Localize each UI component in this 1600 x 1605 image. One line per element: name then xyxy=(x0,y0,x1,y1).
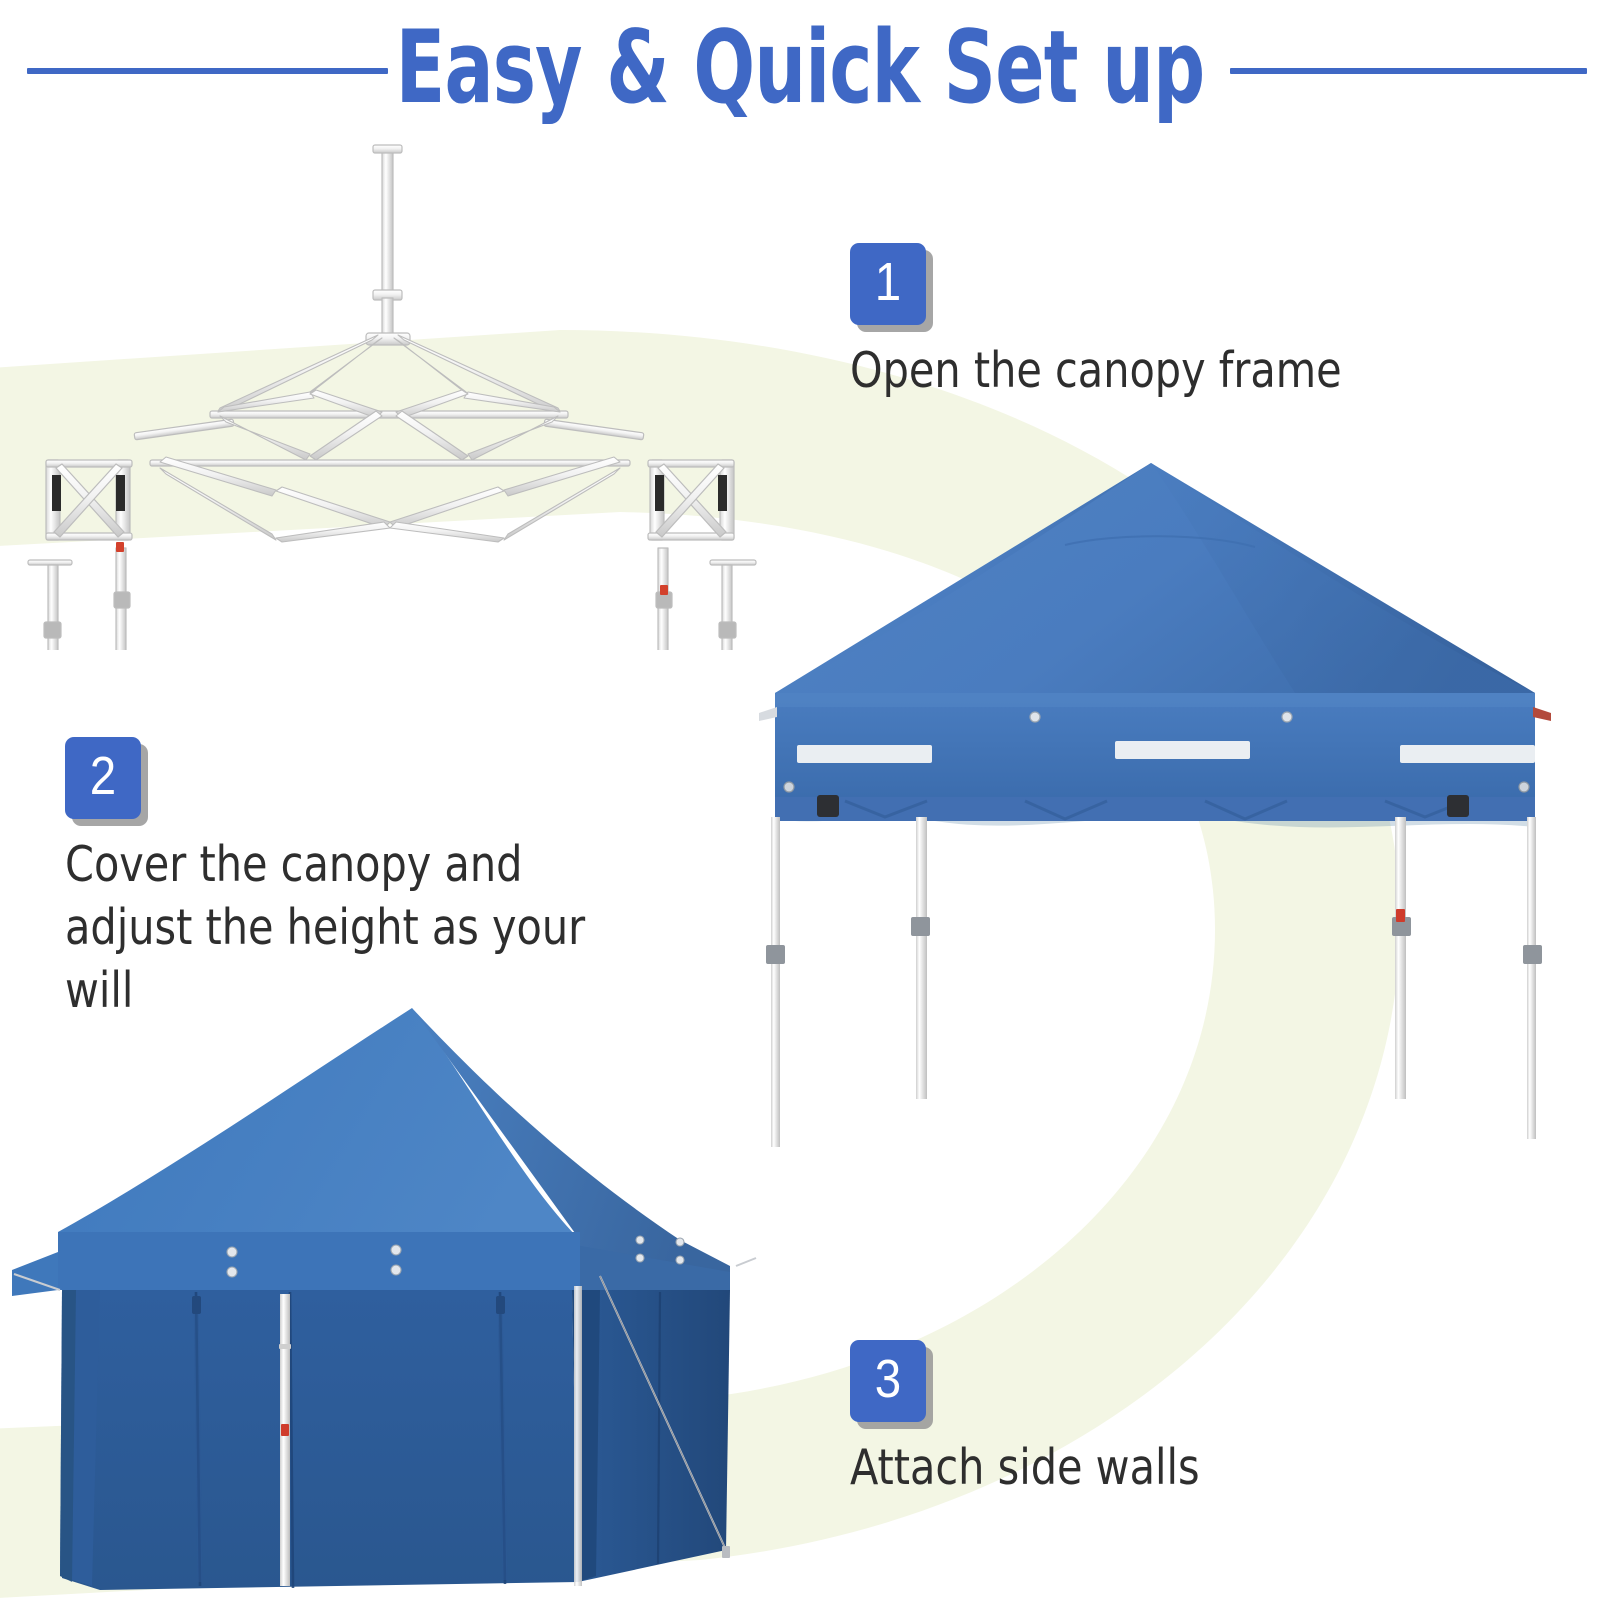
step-3: 3 Attach side walls xyxy=(850,1340,1470,1499)
step-2-number: 2 xyxy=(90,749,116,807)
page-title: Easy & Quick Set up xyxy=(160,8,1440,126)
step-1-number: 1 xyxy=(875,255,901,313)
blue-canopy-illustration xyxy=(735,445,1575,1185)
step-2-badge: 2 xyxy=(65,737,141,819)
infographic-canvas: Easy & Quick Set up xyxy=(0,0,1600,1600)
step-1-caption: Open the canopy frame xyxy=(850,339,1508,402)
step-1: 1 Open the canopy frame xyxy=(850,243,1550,402)
step-3-badge: 3 xyxy=(850,1340,926,1422)
page-header: Easy & Quick Set up xyxy=(0,0,1600,140)
step-3-number: 3 xyxy=(875,1352,901,1410)
step-3-caption: Attach side walls xyxy=(850,1436,1433,1499)
step-1-badge: 1 xyxy=(850,243,926,325)
step-2: 2 Cover the canopy and adjust the height… xyxy=(65,737,765,1022)
step-2-caption: Cover the canopy and adjust the height a… xyxy=(65,833,723,1022)
side-walls-illustration xyxy=(0,990,760,1600)
canopy-frame-illustration xyxy=(10,130,770,650)
